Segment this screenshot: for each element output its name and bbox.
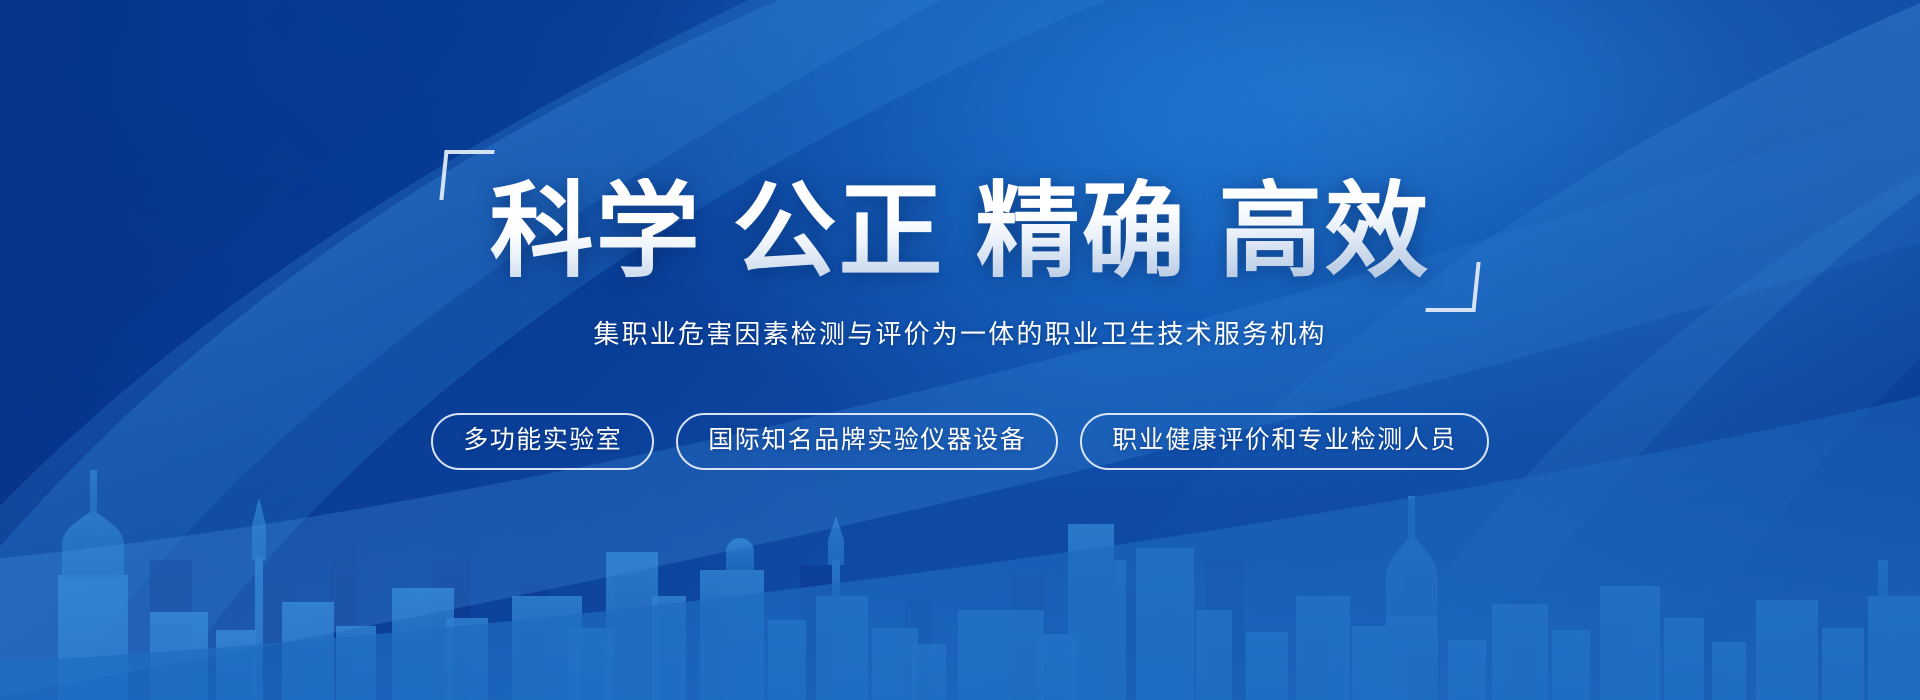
promotional-banner: 科学 公正 精确 高效 集职业危害因素检测与评价为一体的职业卫生技术服务机构 多…	[0, 0, 1920, 700]
page-title: 科学 公正 精确 高效	[490, 178, 1431, 286]
feature-pill-list: 多功能实验室 国际知名品牌实验仪器设备 职业健康评价和专业检测人员	[431, 413, 1489, 470]
banner-content: 科学 公正 精确 高效 集职业危害因素检测与评价为一体的职业卫生技术服务机构 多…	[0, 0, 1920, 700]
feature-pill-lab[interactable]: 多功能实验室	[431, 413, 654, 470]
headline-block: 科学 公正 精确 高效	[448, 178, 1473, 286]
quote-bracket-open-icon	[439, 150, 494, 200]
quote-bracket-close-icon	[1426, 262, 1481, 312]
feature-pill-equipment[interactable]: 国际知名品牌实验仪器设备	[676, 413, 1058, 470]
feature-pill-staff[interactable]: 职业健康评价和专业检测人员	[1080, 413, 1489, 470]
banner-subtitle: 集职业危害因素检测与评价为一体的职业卫生技术服务机构	[593, 314, 1326, 351]
